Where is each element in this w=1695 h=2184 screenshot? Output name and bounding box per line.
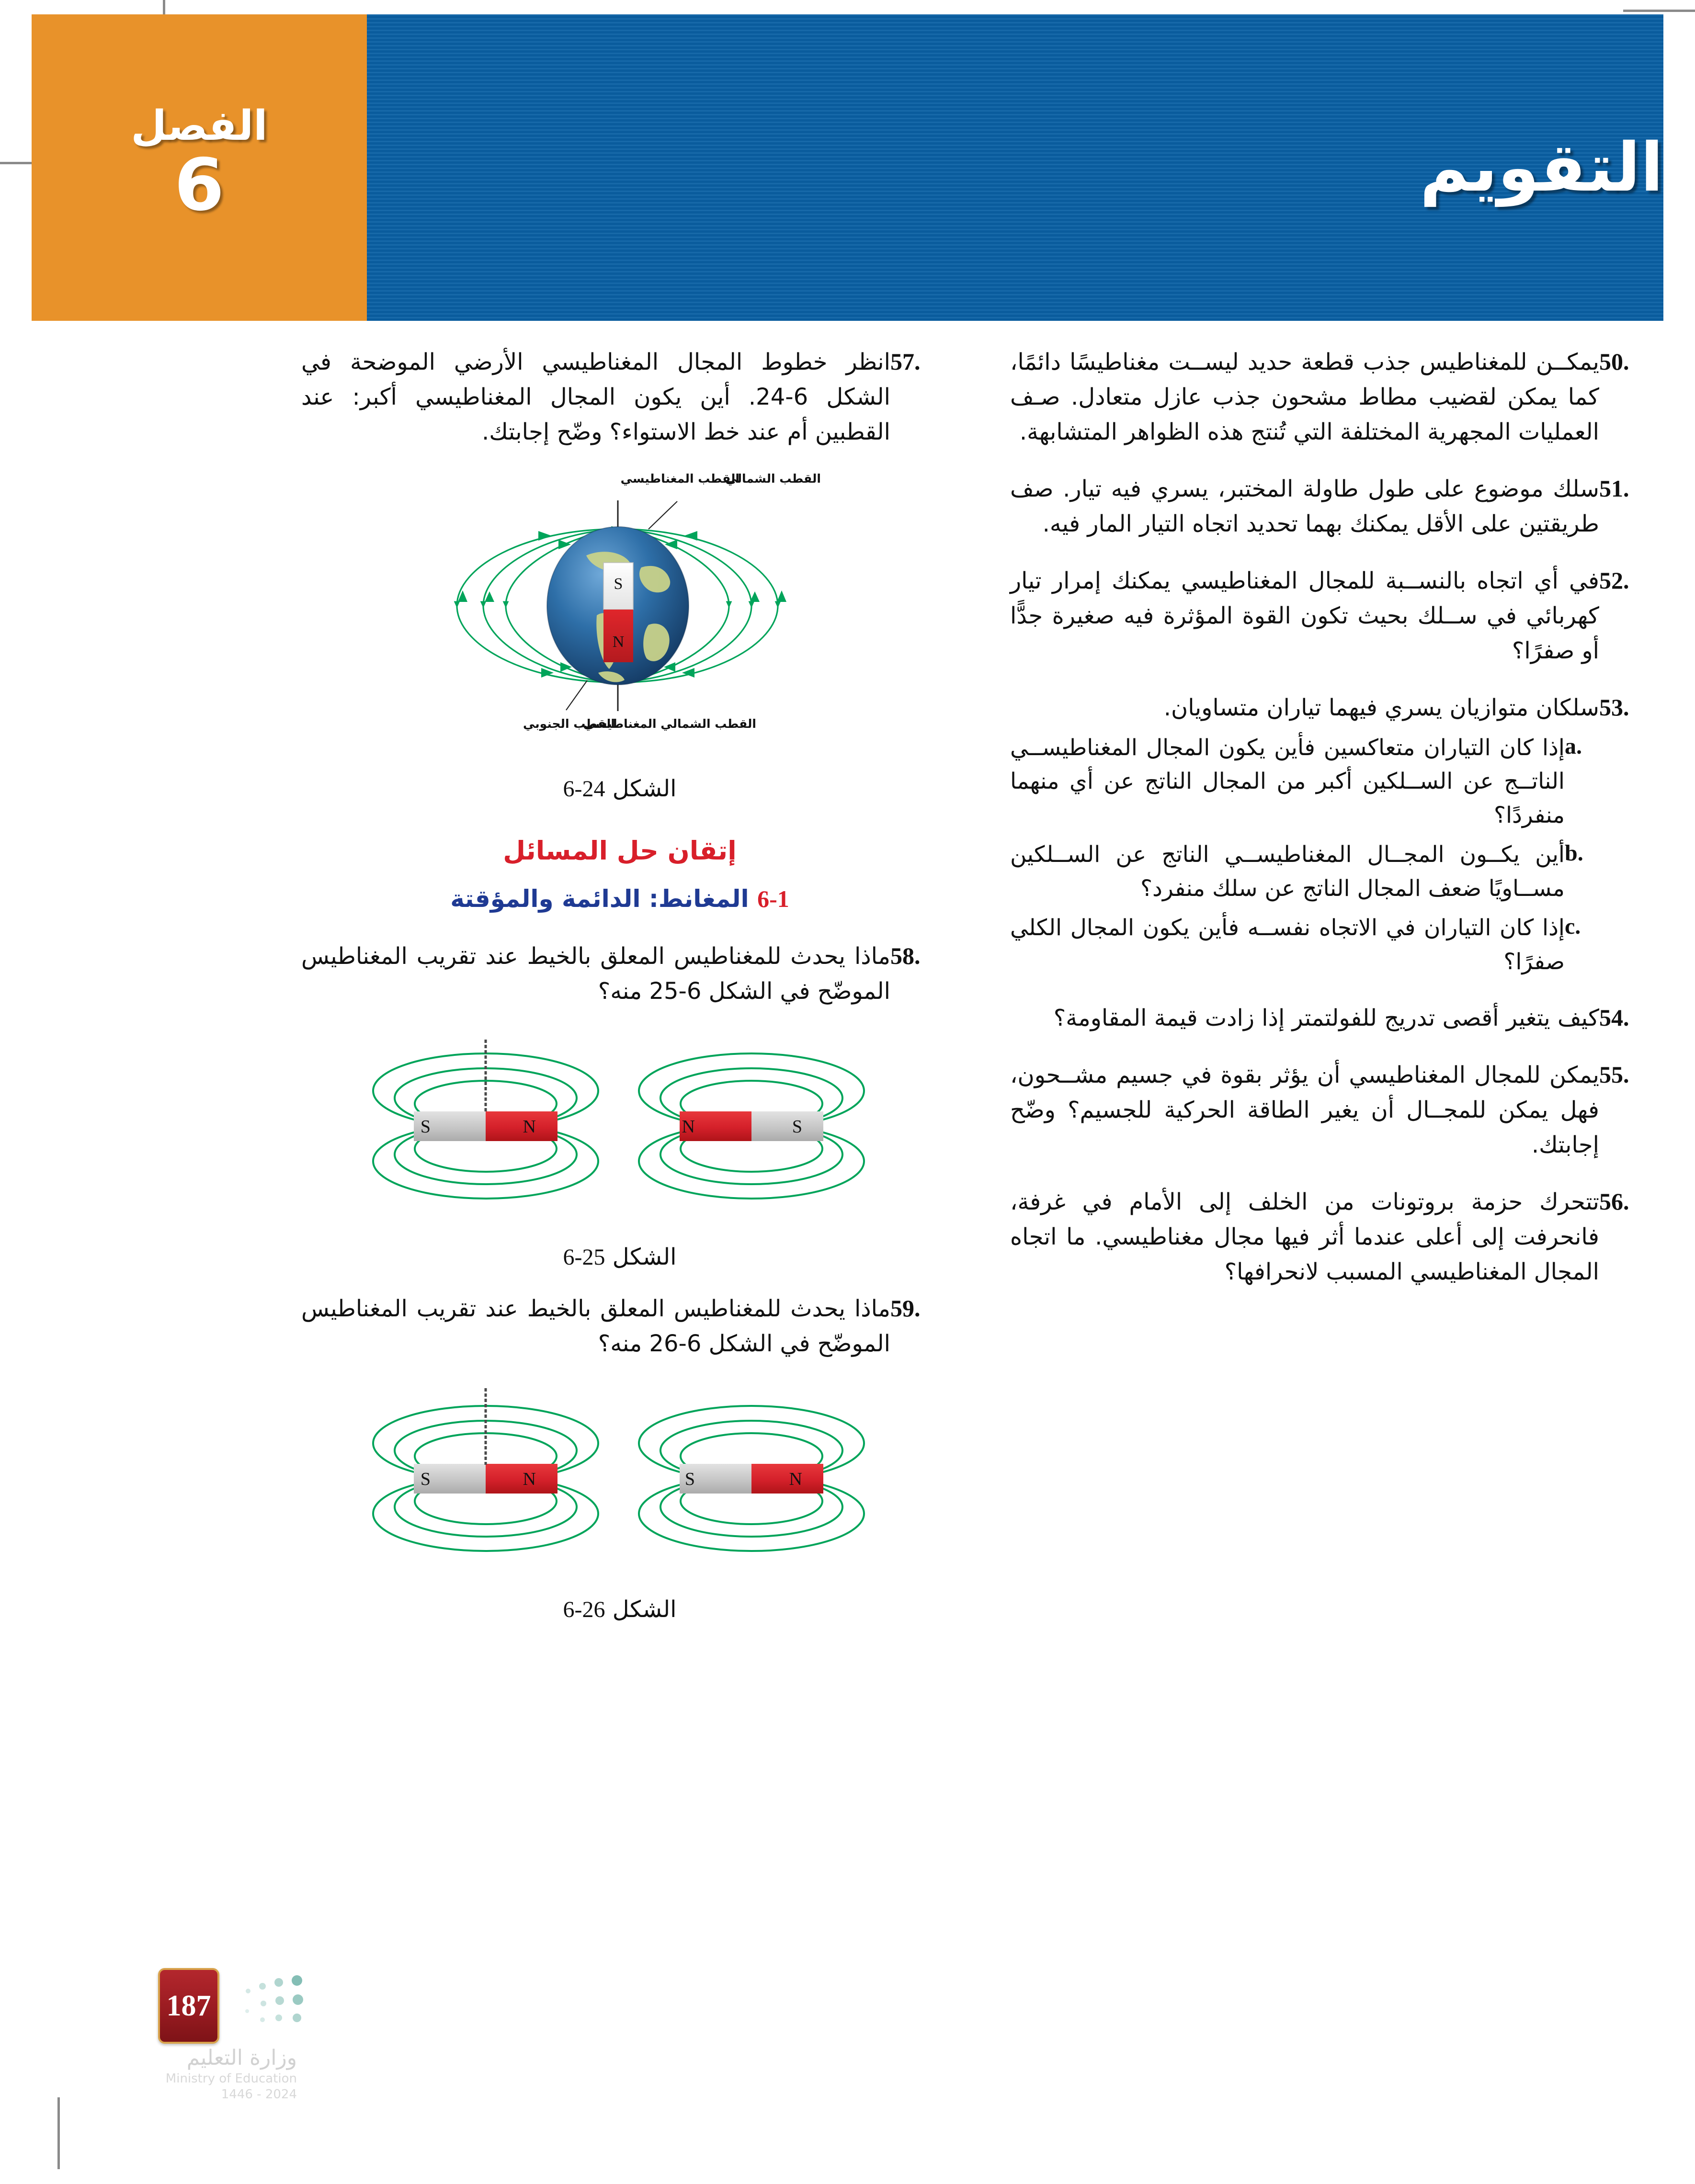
sub-text: إذا كان التياران في الاتجاه نفســه فأين … xyxy=(1010,911,1565,979)
magnet-right-north-half xyxy=(751,1464,823,1494)
question-53: 53. سلكان متوازيان يسري فيهما تياران متس… xyxy=(1010,690,1647,979)
textbook-page: الفصل 6 التقويم 50. يمكــن للمغناطيس جذب… xyxy=(0,0,1695,2184)
decorative-dots xyxy=(225,1972,321,2034)
magnet-right-pole-right: S xyxy=(792,1117,802,1137)
figure-25-svg: S N xyxy=(354,1031,886,1222)
heading-problem-solving: إتقان حل المسائل xyxy=(301,836,938,866)
magnets-diagram-26: S N S xyxy=(354,1383,886,1589)
question-text: سلك موضوع على طول طاولة المختبر، يسري في… xyxy=(1010,472,1599,542)
figure-caption-number: 6-25 xyxy=(563,1244,605,1270)
question-number: 59. xyxy=(890,1291,938,1322)
figure-26-svg: S N S xyxy=(354,1383,886,1575)
magnet-bottom-pole-letter: N xyxy=(613,633,625,651)
magnet-left-pole-left: S xyxy=(421,1117,431,1137)
left-column: 57. انظر خطوط المجال المغناطيسي الأرضي ا… xyxy=(301,345,938,1901)
question-text: تتحرك حزمة بروتونات من الخلف إلى الأمام … xyxy=(1010,1185,1599,1290)
crop-mark-bottom xyxy=(57,2097,60,2169)
figure-6-26-caption: الشكل 6-26 xyxy=(301,1596,938,1623)
figure-6-25-caption: الشكل 6-25 xyxy=(301,1244,938,1270)
sub-label: b. xyxy=(1565,838,1599,905)
content-columns: 50. يمكــن للمغناطيس جذب قطعة حديد ليســ… xyxy=(48,345,1647,1901)
label-north-pole: القطب الشمالي xyxy=(725,472,821,486)
sub-text: إذا كان التياران متعاكسين فأين يكون المج… xyxy=(1010,731,1565,833)
figure-caption-word: الشكل xyxy=(613,1596,677,1623)
chapter-label: الفصل xyxy=(131,105,267,147)
magnet-top-pole-letter: S xyxy=(614,575,623,593)
magnet-left-north-half xyxy=(486,1111,557,1141)
question-number: 50. xyxy=(1599,345,1647,375)
figure-caption-number: 6-24 xyxy=(563,776,605,802)
right-column: 50. يمكــن للمغناطيس جذب قطعة حديد ليســ… xyxy=(1010,345,1647,1901)
sub-label: a. xyxy=(1565,731,1599,833)
sub-text: أين يكــون المجــال المغناطيســي الناتج … xyxy=(1010,838,1565,905)
watermark-english: Ministry of Education xyxy=(96,2071,297,2087)
figure-caption-word: الشكل xyxy=(613,1244,677,1270)
magnet-left-pole-left: S xyxy=(421,1469,431,1489)
earth-magnetic-field-diagram: S N القطب المغناطيسي القطب الشمالي القطب… xyxy=(380,472,859,769)
chapter-badge: الفصل 6 xyxy=(32,14,367,321)
magnet-left-north-half xyxy=(486,1464,557,1494)
question-number: 57. xyxy=(890,345,938,375)
earth-field-svg: S N xyxy=(380,472,859,740)
question-number: 55. xyxy=(1599,1058,1647,1088)
watermark-arabic: وزارة التعليم xyxy=(96,2045,297,2071)
magnets-diagram-25: S N xyxy=(354,1031,886,1237)
sub-label: c. xyxy=(1565,911,1599,979)
magnet-right-pole-left: S xyxy=(685,1469,695,1489)
question-text: انظر خطوط المجال المغناطيسي الأرضي الموض… xyxy=(301,345,890,450)
banner-title-area: التقويم xyxy=(367,14,1663,321)
section-title: المغانط: الدائمة والمؤقتة xyxy=(450,885,749,913)
question-58: 58. ماذا يحدث للمغناطيس المعلق بالخيط عن… xyxy=(301,939,938,1009)
label-magnetic-north-pole-bottom: القطب الشمالي المغناطيسي xyxy=(583,717,756,731)
section-number: 6-1 xyxy=(757,885,789,912)
question-53-part-b: b. أين يكــون المجــال المغناطيســي النا… xyxy=(1010,838,1599,905)
label-magnetic-pole-top: القطب المغناطيسي xyxy=(621,472,739,486)
magnet-left-pole-right: N xyxy=(523,1117,536,1137)
question-number: 53. xyxy=(1599,690,1647,721)
figure-6-24: S N القطب المغناطيسي القطب الشمالي القطب… xyxy=(301,472,938,802)
magnet-right-pole-left: N xyxy=(682,1117,695,1137)
question-text: يمكــن للمغناطيس جذب قطعة حديد ليســت مغ… xyxy=(1010,345,1599,450)
magnet-left-pole-right: N xyxy=(523,1469,536,1489)
page-title: التقويم xyxy=(1420,133,1663,203)
question-53-part-a: a. إذا كان التياران متعاكسين فأين يكون ا… xyxy=(1010,731,1599,833)
chapter-number: 6 xyxy=(174,149,224,221)
section-heading: 6-1 المغانط: الدائمة والمؤقتة xyxy=(301,885,938,913)
figure-6-25: S N xyxy=(301,1031,938,1270)
chapter-banner: الفصل 6 التقويم xyxy=(32,14,1663,321)
question-52: 52. في أي اتجاه بالنســبة للمجال المغناط… xyxy=(1010,564,1647,668)
question-50: 50. يمكــن للمغناطيس جذب قطعة حديد ليســ… xyxy=(1010,345,1647,450)
watermark-year: 2024 - 1446 xyxy=(96,2087,297,2103)
question-56: 56. تتحرك حزمة بروتونات من الخلف إلى الأ… xyxy=(1010,1185,1647,1290)
question-number: 52. xyxy=(1599,564,1647,594)
figure-6-26: S N S xyxy=(301,1383,938,1623)
question-number: 58. xyxy=(890,939,938,970)
ministry-watermark: وزارة التعليم Ministry of Education 2024… xyxy=(96,2045,297,2102)
question-text: ماذا يحدث للمغناطيس المعلق بالخيط عند تق… xyxy=(301,939,890,1009)
question-51: 51. سلك موضوع على طول طاولة المختبر، يسر… xyxy=(1010,472,1647,542)
question-text: كيف يتغير أقصى تدريج للفولتمتر إذا زادت … xyxy=(1010,1001,1599,1036)
figure-caption-number: 6-26 xyxy=(563,1596,605,1623)
question-57: 57. انظر خطوط المجال المغناطيسي الأرضي ا… xyxy=(301,345,938,450)
page-number-badge: 187 xyxy=(158,1968,219,2044)
question-54: 54. كيف يتغير أقصى تدريج للفولتمتر إذا ز… xyxy=(1010,1001,1647,1036)
question-59: 59. ماذا يحدث للمغناطيس المعلق بالخيط عن… xyxy=(301,1291,938,1361)
question-text: في أي اتجاه بالنســبة للمجال المغناطيسي … xyxy=(1010,564,1599,668)
question-text: ماذا يحدث للمغناطيس المعلق بالخيط عند تق… xyxy=(301,1291,890,1361)
question-number: 54. xyxy=(1599,1001,1647,1031)
question-number: 51. xyxy=(1599,472,1647,502)
question-number: 56. xyxy=(1599,1185,1647,1215)
figure-6-24-caption: الشكل 6-24 xyxy=(301,775,938,802)
magnet-right-pole-right: N xyxy=(789,1469,802,1489)
question-55: 55. يمكن للمجال المغناطيسي أن يؤثر بقوة … xyxy=(1010,1058,1647,1163)
question-text: يمكن للمجال المغناطيسي أن يؤثر بقوة في ج… xyxy=(1010,1058,1599,1163)
magnet-right-south-half xyxy=(751,1111,823,1141)
question-text: سلكان متوازيان يسري فيهما تياران متساويا… xyxy=(1010,690,1599,725)
figure-caption-word: الشكل xyxy=(613,775,677,802)
crop-mark-right xyxy=(1623,10,1695,12)
question-53-part-c: c. إذا كان التياران في الاتجاه نفســه فأ… xyxy=(1010,911,1599,979)
